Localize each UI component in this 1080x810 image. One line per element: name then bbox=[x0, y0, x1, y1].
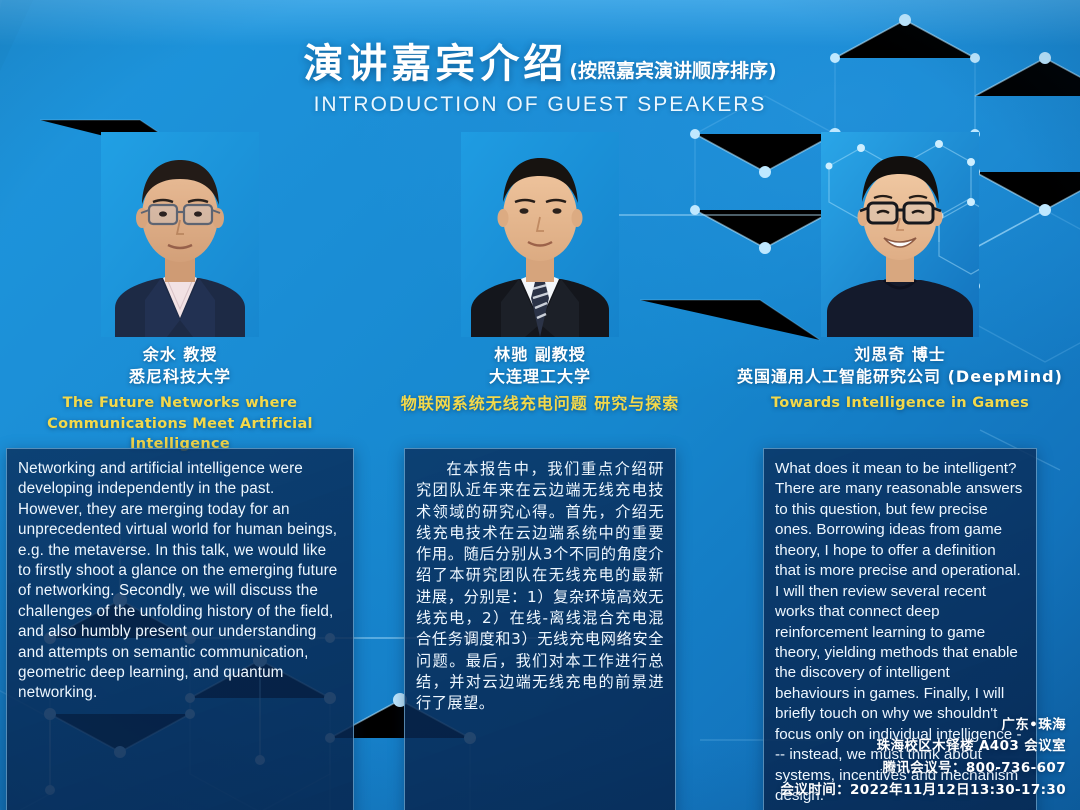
speaker-card-2: 林驰 副教授 大连理工大学 物联网系统无线充电问题 研究与探索 bbox=[360, 132, 720, 462]
photo-frame-3 bbox=[821, 132, 979, 337]
abstract-col-2: 在本报告中，我们重点介绍研究团队近年来在云边端无线充电技术领域的研究心得。首先，… bbox=[360, 448, 720, 810]
photo-frame-1 bbox=[101, 132, 259, 337]
page-title-chinese: 演讲嘉宾介绍 bbox=[303, 44, 567, 84]
footer-meeting-id: 腾讯会议号：800-736-607 bbox=[781, 758, 1067, 780]
speaker-names-2: 林驰 副教授 大连理工大学 物联网系统无线充电问题 研究与探索 bbox=[360, 344, 720, 416]
footer-venue: 珠海校区木铎楼 A403 会议室 bbox=[781, 736, 1067, 758]
speaker-card-1: 余水 教授 悉尼科技大学 The Future Networks where C… bbox=[0, 132, 360, 462]
footer-location: 广东•珠海 bbox=[781, 715, 1067, 737]
page-header: 演讲嘉宾介绍 (按照嘉宾演讲顺序排序) INTRODUCTION OF GUES… bbox=[0, 44, 1080, 117]
speaker-affiliation-2: 大连理工大学 bbox=[360, 366, 720, 388]
speaker-name-3: 刘思奇 博士 bbox=[720, 344, 1080, 366]
abstract-box-2: 在本报告中，我们重点介绍研究团队近年来在云边端无线充电技术领域的研究心得。首先，… bbox=[404, 448, 676, 810]
speaker-talk-title-1: The Future Networks where Communications… bbox=[0, 393, 360, 455]
speaker-name-2: 林驰 副教授 bbox=[360, 344, 720, 366]
abstract-col-1: Networking and artificial intelligence w… bbox=[0, 448, 360, 810]
speaker-card-3: 刘思奇 博士 英国通用人工智能研究公司 (DeepMind) Towards I… bbox=[720, 132, 1080, 462]
portrait-photo-3 bbox=[821, 132, 979, 337]
speaker-talk-title-3: Towards Intelligence in Games bbox=[720, 393, 1080, 414]
abstract-box-1: Networking and artificial intelligence w… bbox=[6, 448, 354, 810]
speaker-affiliation-3: 英国通用人工智能研究公司 (DeepMind) bbox=[720, 366, 1080, 388]
speaker-names-3: 刘思奇 博士 英国通用人工智能研究公司 (DeepMind) Towards I… bbox=[720, 344, 1080, 414]
page-title-english: INTRODUCTION OF GUEST SPEAKERS bbox=[0, 93, 1080, 117]
speaker-list: 余水 教授 悉尼科技大学 The Future Networks where C… bbox=[0, 132, 1080, 462]
abstract-text-2: 在本报告中，我们重点介绍研究团队近年来在云边端无线充电技术领域的研究心得。首先，… bbox=[416, 459, 664, 714]
footer-meeting-time: 会议时间：2022年11月12日13:30-17:30 bbox=[781, 780, 1067, 802]
portrait-photo-1 bbox=[101, 132, 259, 337]
speaker-talk-title-2: 物联网系统无线充电问题 研究与探索 bbox=[360, 393, 720, 416]
portrait-photo-2 bbox=[461, 132, 619, 337]
speaker-affiliation-1: 悉尼科技大学 bbox=[0, 366, 360, 388]
speaker-names-1: 余水 教授 悉尼科技大学 The Future Networks where C… bbox=[0, 344, 360, 455]
page-title-note: (按照嘉宾演讲顺序排序) bbox=[569, 62, 776, 84]
footer-info: 广东•珠海 珠海校区木铎楼 A403 会议室 腾讯会议号：800-736-607… bbox=[781, 715, 1067, 802]
title-row: 演讲嘉宾介绍 (按照嘉宾演讲顺序排序) bbox=[0, 44, 1080, 84]
abstract-text-1: Networking and artificial intelligence w… bbox=[18, 459, 342, 704]
speaker-name-1: 余水 教授 bbox=[0, 344, 360, 366]
photo-frame-2 bbox=[461, 132, 619, 337]
poster-canvas: 演讲嘉宾介绍 (按照嘉宾演讲顺序排序) INTRODUCTION OF GUES… bbox=[0, 0, 1080, 810]
